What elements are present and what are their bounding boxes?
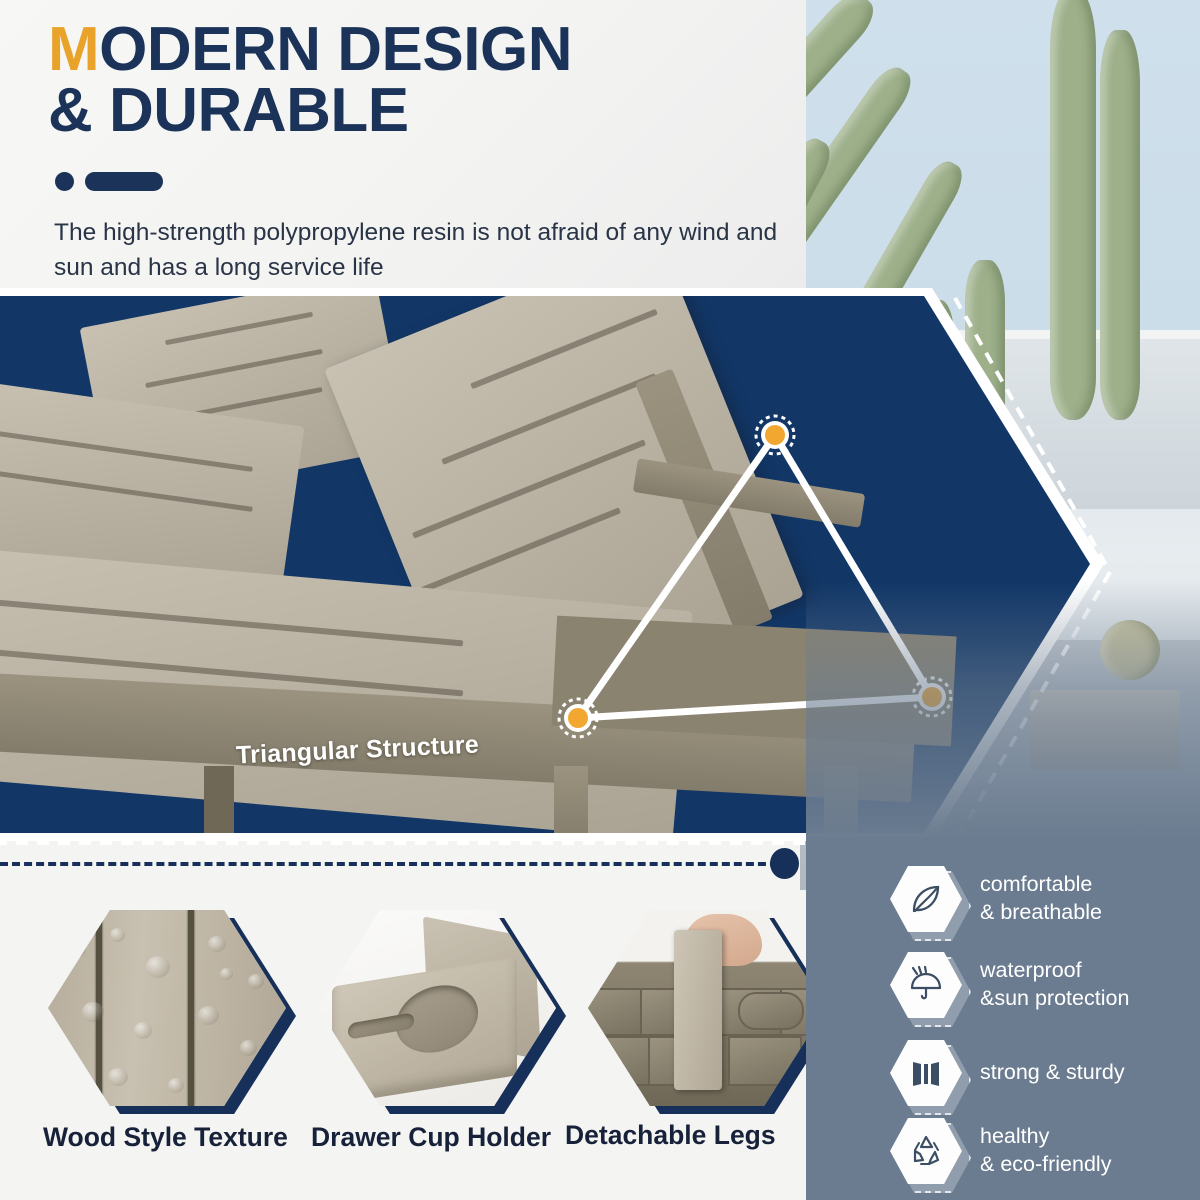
water-droplet <box>208 936 226 952</box>
umbrella-rain-icon <box>890 952 962 1018</box>
thumbnail-cup-holder[interactable] <box>318 910 556 1106</box>
leg <box>554 766 588 833</box>
feature-thumbnail-row: Wood Style Texture Drawer Cup Holder Det… <box>0 890 820 1200</box>
recycle-icon <box>890 1118 962 1184</box>
frame-cell <box>588 988 644 1036</box>
caption-highlight: Detachable Legs <box>562 1120 779 1151</box>
title-line-2: & DURABLE <box>48 81 788 142</box>
section-divider <box>0 862 790 866</box>
plank-gap <box>188 910 194 1106</box>
feature-label: healthy & eco-friendly <box>980 1123 1111 1179</box>
cactus-icon <box>1100 620 1160 680</box>
feature-label: strong & sturdy <box>980 1059 1125 1087</box>
feature-item-waterproof[interactable]: waterproof &sun protection <box>890 952 1129 1018</box>
product-infographic: MODERN DESIGN & DURABLE The high-strengt… <box>0 0 1200 1200</box>
leg-socket <box>738 992 804 1030</box>
hero-panel: Triangular Structure <box>0 296 1104 841</box>
water-droplet <box>82 1002 104 1022</box>
panels-icon <box>890 1040 962 1106</box>
thumbnail-caption-legs: Detachable Legs <box>562 1120 779 1151</box>
leg <box>204 766 234 833</box>
thumbnail-detachable-legs[interactable] <box>588 910 826 1106</box>
feature-item-eco[interactable]: healthy & eco-friendly <box>890 1118 1111 1184</box>
deco-dot-icon <box>55 172 74 191</box>
water-droplet <box>220 968 233 980</box>
caption-highlight: Wood Style Texture <box>40 1122 291 1153</box>
title-accent-letter: M <box>48 15 99 84</box>
title-decoration <box>55 172 163 191</box>
seat-under-shadow <box>551 616 956 747</box>
water-droplet <box>248 974 264 989</box>
water-droplet <box>134 1022 152 1039</box>
thumbnail-caption-wood: Wood Style Texture <box>40 1122 291 1153</box>
feature-item-strong[interactable]: strong & sturdy <box>890 1040 1125 1106</box>
hero-navy-body <box>0 296 1090 833</box>
lounger-product-image <box>0 296 1090 833</box>
water-droplet <box>108 1068 128 1086</box>
page-title: MODERN DESIGN & DURABLE <box>48 20 788 142</box>
thumbnail-caption-cup: Drawer Cup Holder <box>308 1122 554 1153</box>
leaf-icon <box>890 866 962 932</box>
caption-highlight: Drawer Cup Holder <box>308 1122 554 1153</box>
header-block: MODERN DESIGN & DURABLE The high-strengt… <box>0 0 806 300</box>
title-rest: ODERN DESIGN <box>99 15 572 84</box>
water-droplet <box>110 928 125 942</box>
deco-bar-icon <box>85 172 163 191</box>
frame-cell <box>588 1036 652 1086</box>
feature-label: comfortable & breathable <box>980 871 1102 927</box>
water-droplet <box>198 1006 219 1025</box>
feature-item-comfortable[interactable]: comfortable & breathable <box>890 866 1102 932</box>
water-droplet <box>146 956 170 978</box>
header-subtitle: The high-strength polypropylene resin is… <box>54 216 784 286</box>
leg <box>824 766 858 833</box>
water-droplet <box>168 1078 184 1093</box>
detachable-leg <box>674 930 722 1090</box>
thumbnail-wood-texture[interactable] <box>48 910 286 1106</box>
cactus-icon <box>1100 30 1140 420</box>
water-droplet <box>240 1040 257 1056</box>
feature-label: waterproof &sun protection <box>980 957 1129 1013</box>
divider-endpoint-dot-icon <box>770 848 799 879</box>
water-droplet <box>66 940 86 958</box>
